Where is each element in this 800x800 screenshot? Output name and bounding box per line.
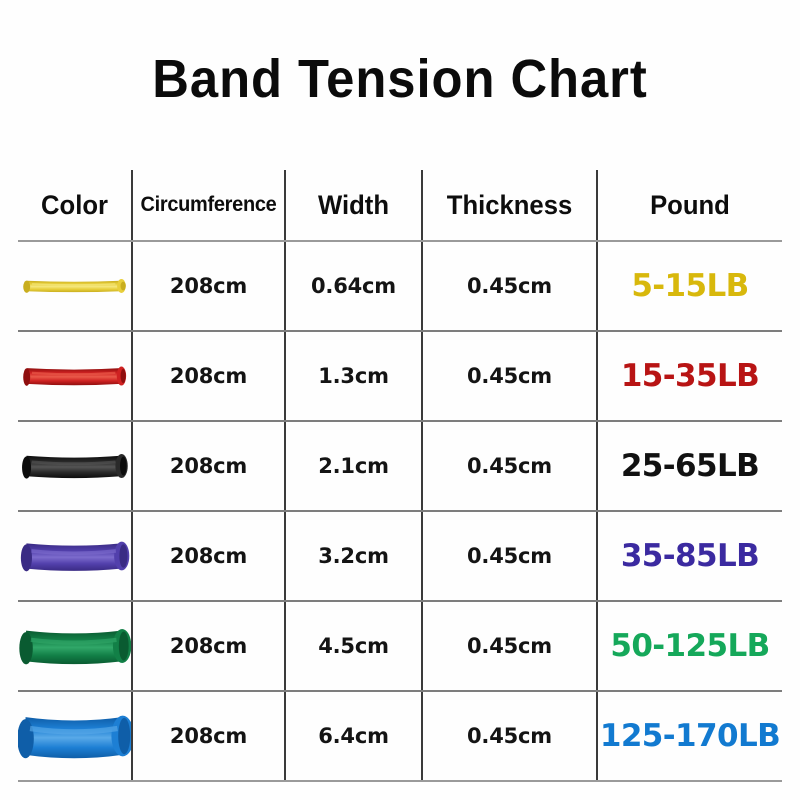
band-black-icon	[18, 445, 131, 487]
band-circumference-value: 208cm	[132, 511, 285, 601]
band-pound-value: 25-65LB	[597, 421, 782, 511]
band-circumference-value: 208cm	[132, 601, 285, 691]
table-body: 208cm0.64cm0.45cm5-15LB208cm1.3cm0.45cm1…	[18, 241, 782, 781]
band-thickness-value: 0.45cm	[422, 421, 597, 511]
band-thickness-value: 0.45cm	[422, 511, 597, 601]
band-thickness-value: 0.45cm	[422, 241, 597, 331]
column-header-color: Color	[21, 170, 129, 241]
column-header-pound: Pound	[602, 170, 778, 241]
band-swatch-cell	[18, 331, 132, 421]
column-header-circumference: Circumference	[136, 170, 281, 241]
table-row: 208cm6.4cm0.45cm125-170LB	[18, 691, 782, 781]
band-swatch-cell	[18, 241, 132, 331]
column-header-width: Width	[288, 170, 418, 241]
band-yellow-icon	[18, 271, 131, 301]
band-swatch-cell	[18, 421, 132, 511]
table-header: Color Circumference Width Thickness Poun…	[18, 170, 782, 241]
band-width-value: 4.5cm	[285, 601, 422, 691]
band-pound-value: 125-170LB	[597, 691, 782, 781]
band-pound-value: 50-125LB	[597, 601, 782, 691]
band-thickness-value: 0.45cm	[422, 601, 597, 691]
band-pound-value: 15-35LB	[597, 331, 782, 421]
band-width-value: 1.3cm	[285, 331, 422, 421]
band-blue-icon	[18, 702, 131, 770]
table-row: 208cm4.5cm0.45cm50-125LB	[18, 601, 782, 691]
band-thickness-value: 0.45cm	[422, 691, 597, 781]
band-tension-chart-page: Band Tension Chart Color Circumference W…	[0, 0, 800, 800]
band-width-value: 2.1cm	[285, 421, 422, 511]
band-green-icon	[18, 618, 131, 674]
band-circumference-value: 208cm	[132, 691, 285, 781]
band-width-value: 3.2cm	[285, 511, 422, 601]
table-row: 208cm1.3cm0.45cm15-35LB	[18, 331, 782, 421]
column-header-thickness: Thickness	[426, 170, 592, 241]
band-width-value: 6.4cm	[285, 691, 422, 781]
band-width-value: 0.64cm	[285, 241, 422, 331]
band-pound-value: 5-15LB	[597, 241, 782, 331]
band-pound-value: 35-85LB	[597, 511, 782, 601]
table-row: 208cm0.64cm0.45cm5-15LB	[18, 241, 782, 331]
band-swatch-cell	[18, 601, 132, 691]
band-circumference-value: 208cm	[132, 421, 285, 511]
table-row: 208cm2.1cm0.45cm25-65LB	[18, 421, 782, 511]
band-red-icon	[18, 358, 131, 394]
header-row: Color Circumference Width Thickness Poun…	[18, 170, 782, 241]
band-swatch-cell	[18, 511, 132, 601]
band-circumference-value: 208cm	[132, 241, 285, 331]
band-circumference-value: 208cm	[132, 331, 285, 421]
band-tension-table: Color Circumference Width Thickness Poun…	[18, 170, 782, 782]
page-title: Band Tension Chart	[24, 48, 776, 110]
band-thickness-value: 0.45cm	[422, 331, 597, 421]
band-swatch-cell	[18, 691, 132, 781]
band-purple-icon	[18, 532, 131, 580]
table-row: 208cm3.2cm0.45cm35-85LB	[18, 511, 782, 601]
